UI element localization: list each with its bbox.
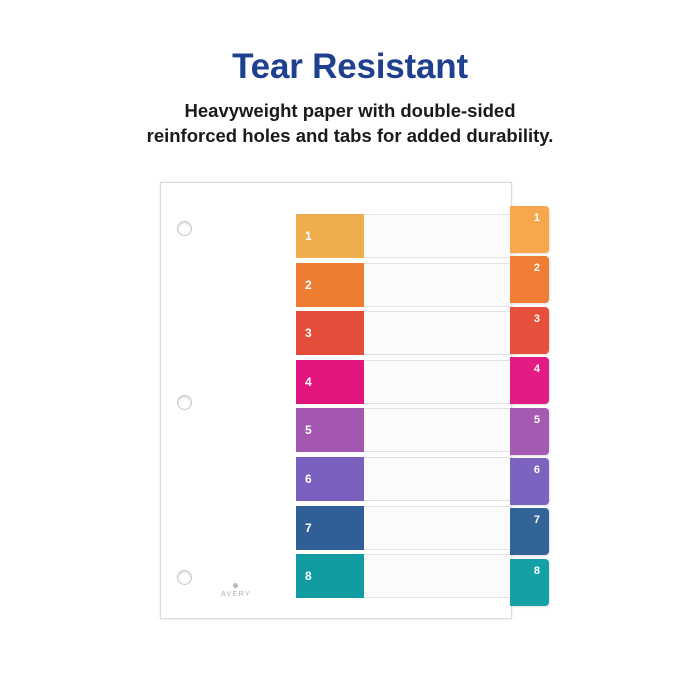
punch-hole-icon [177,395,192,410]
divider-tab-number-label: 2 [534,263,540,274]
divider-tab-number-label: 7 [534,515,540,526]
divider-row: 3 [296,311,512,355]
divider-write-area [364,554,512,598]
divider-number-label: 3 [305,327,312,339]
divider-color-block: 1 [296,214,364,258]
divider-write-area [364,263,512,307]
divider-tab-number-label: 5 [534,415,540,426]
divider-row-list: 12345678 [296,214,512,598]
divider-write-area [364,360,512,404]
divider-row: 6 [296,457,512,501]
avery-wordmark: AVERY [201,591,271,598]
divider-tab-number-label: 6 [534,465,540,476]
divider-tab-number-label: 4 [534,364,540,375]
divider-color-block: 2 [296,263,364,307]
divider-tab: 6 [510,458,549,505]
divider-tab-number-label: 8 [534,566,540,577]
subtitle-line-2: reinforced holes and tabs for added dura… [0,123,700,148]
divider-number-label: 5 [305,424,312,436]
divider-number-label: 2 [305,279,312,291]
divider-color-block: 4 [296,360,364,404]
divider-color-block: 8 [296,554,364,598]
divider-number-label: 1 [305,230,312,242]
divider-row: 8 [296,554,512,598]
punch-hole-icon [177,221,192,236]
punch-hole-icon [177,570,192,585]
divider-row: 1 [296,214,512,258]
divider-write-area [364,506,512,550]
divider-tab-number-label: 1 [534,213,540,224]
divider-tab: 8 [510,559,549,606]
divider-color-block: 7 [296,506,364,550]
divider-tab: 5 [510,408,549,455]
divider-tab: 3 [510,307,549,354]
page-subtitle: Heavyweight paper with double-sided rein… [0,98,700,148]
divider-number-label: 7 [305,522,312,534]
divider-write-area [364,214,512,258]
avery-mark-icon: ● [201,580,271,590]
product-marketing-image: Tear Resistant Heavyweight paper with do… [0,0,700,700]
divider-tab: 4 [510,357,549,404]
divider-write-area [364,311,512,355]
divider-write-area [364,457,512,501]
divider-color-block: 6 [296,457,364,501]
divider-color-block: 3 [296,311,364,355]
divider-set-photo: ● AVERY 12345678 12345678 [160,182,550,619]
subtitle-line-1: Heavyweight paper with double-sided [185,100,516,121]
divider-row: 4 [296,360,512,404]
avery-logo: ● AVERY [201,580,271,598]
page-title: Tear Resistant [0,47,700,87]
divider-number-label: 6 [305,473,312,485]
divider-number-label: 4 [305,376,312,388]
divider-write-area [364,408,512,452]
divider-color-block: 5 [296,408,364,452]
divider-tab: 1 [510,206,549,253]
divider-tab: 7 [510,508,549,555]
divider-row: 5 [296,408,512,452]
divider-tab-list: 12345678 [510,206,550,606]
divider-row: 7 [296,506,512,550]
divider-tab: 2 [510,256,549,303]
divider-tab-number-label: 3 [534,314,540,325]
divider-row: 2 [296,263,512,307]
divider-number-label: 8 [305,570,312,582]
